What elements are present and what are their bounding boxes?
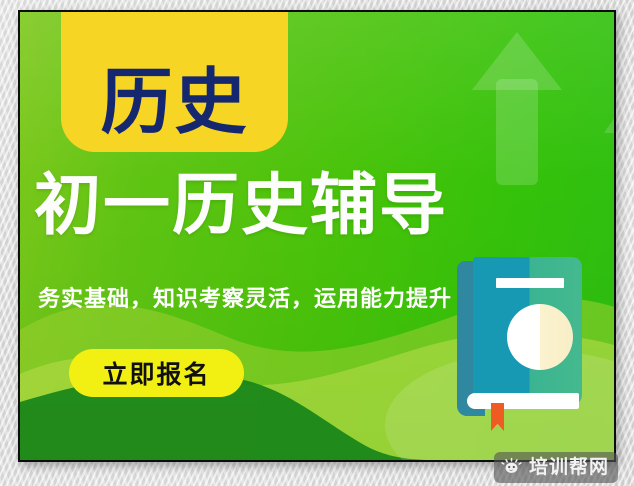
- enroll-now-button[interactable]: 立即报名: [69, 349, 244, 397]
- watermark-text: 培训帮网: [529, 458, 609, 477]
- course-promo-banner: 历史 初一历史辅导 务实基础，知识考察灵活，运用能力提升 立即报名: [18, 10, 616, 462]
- subject-badge-label: 历史: [100, 66, 248, 138]
- sun-face-icon: [501, 457, 522, 478]
- page-backdrop: 历史 初一历史辅导 务实基础，知识考察灵活，运用能力提升 立即报名: [0, 0, 634, 486]
- banner-subtitle: 务实基础，知识考察灵活，运用能力提升: [38, 287, 452, 313]
- page-title: 初一历史辅导: [34, 172, 594, 239]
- arrow-up-icon: [472, 24, 562, 184]
- enroll-now-label: 立即报名: [102, 355, 210, 391]
- site-watermark: 培训帮网: [494, 452, 618, 483]
- subject-badge: 历史: [61, 10, 288, 152]
- arrow-up-icon: [604, 97, 616, 207]
- book-icon: [457, 257, 582, 420]
